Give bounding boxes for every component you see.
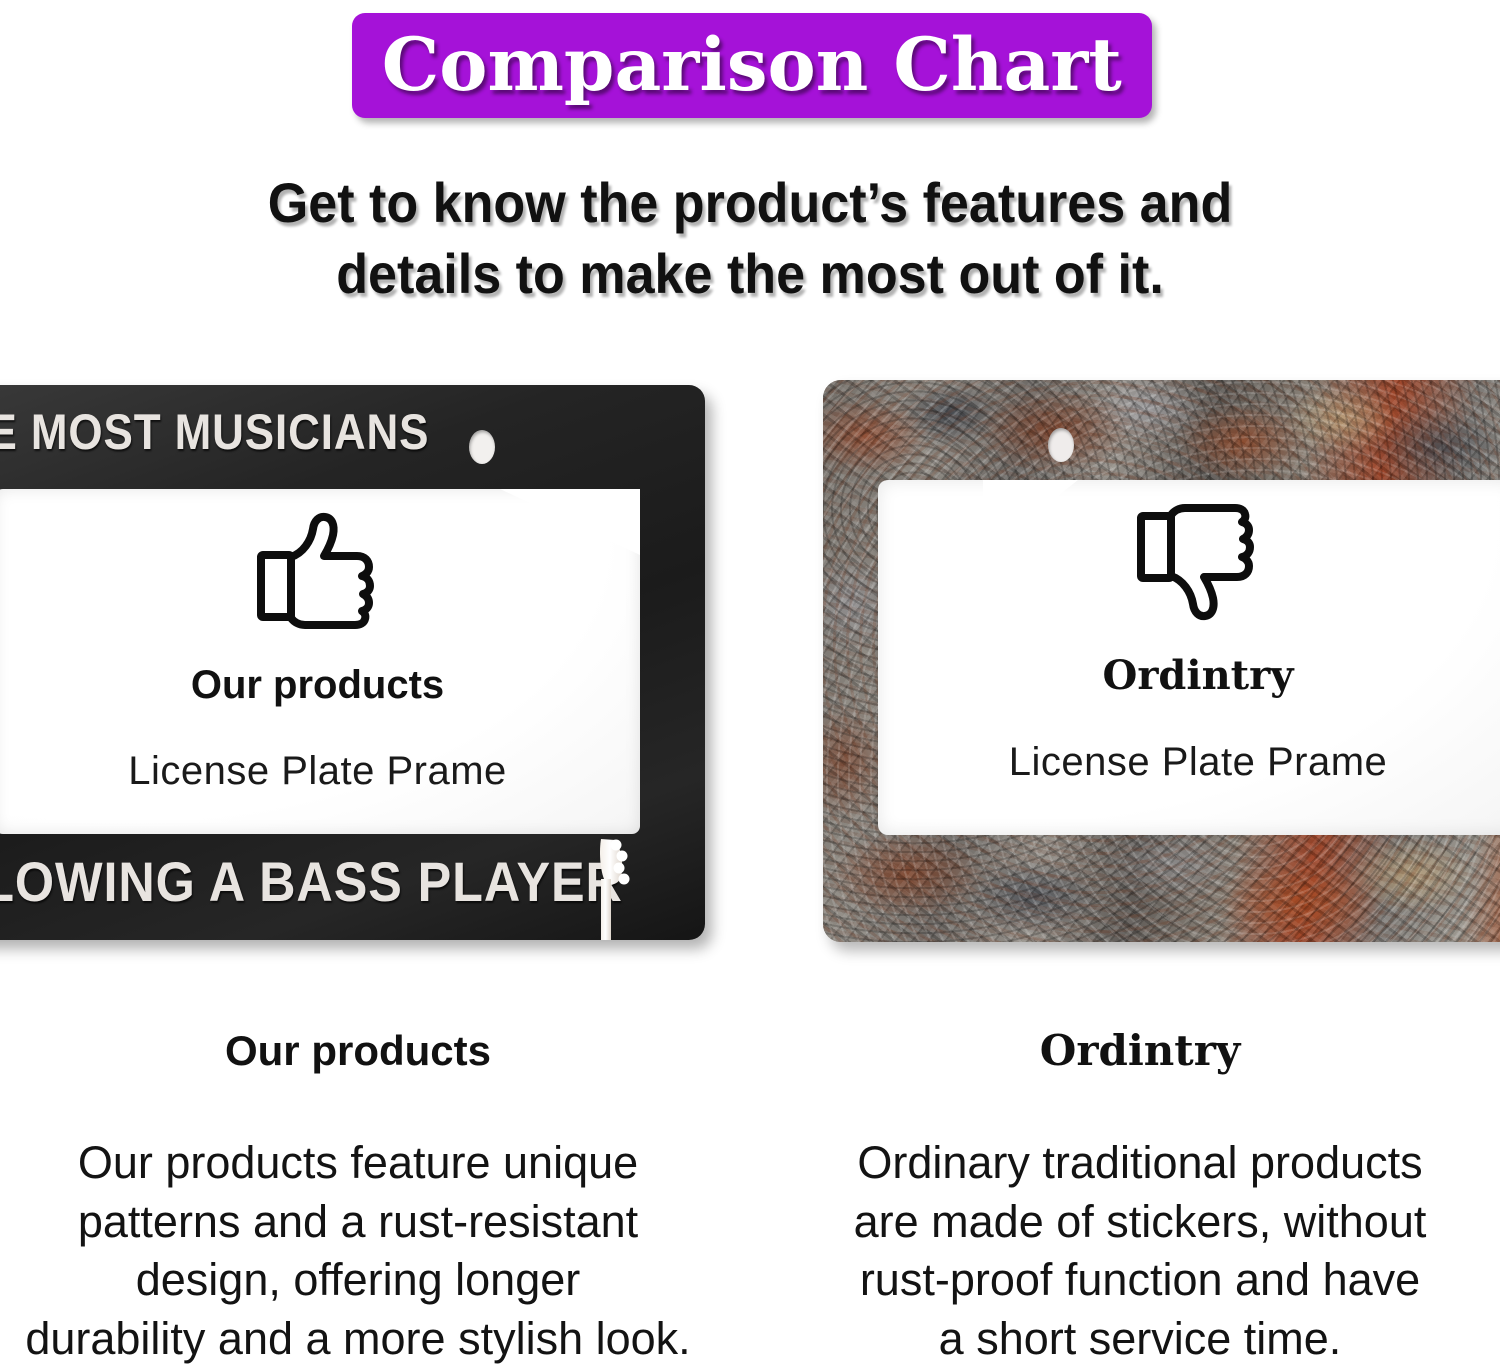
frame-top-text-left: E MOST MUSICIANS — [0, 407, 398, 457]
desc-left-line-4: durability and a more stylish look. — [8, 1310, 708, 1368]
description-heading-right: Ordintry — [790, 1030, 1490, 1072]
screw-hole-icon — [1048, 428, 1074, 462]
description-heading-left: Our products — [8, 1030, 708, 1072]
desc-left-line-2: patterns and a rust-resistant — [8, 1193, 708, 1252]
comparison-chart-banner: Comparison Chart — [352, 13, 1152, 118]
desc-right-line-4: a short service time. — [790, 1310, 1490, 1368]
subtitle-line-1: Get to know the product’s features and — [53, 168, 1448, 239]
desc-right-line-2: are made of stickers, without — [790, 1193, 1490, 1252]
subtitle: Get to know the product’s features and d… — [53, 168, 1448, 309]
description-body-right: Ordinary traditional products are made o… — [790, 1134, 1490, 1368]
screw-hole-icon — [469, 430, 495, 464]
plate-content-right: Ordintry License Plate Prame — [878, 480, 1500, 835]
card-title-left: Our products — [191, 665, 444, 705]
desc-right-line-3: rust-proof function and have — [790, 1251, 1490, 1310]
desc-left-line-3: design, offering longer — [8, 1251, 708, 1310]
product-card-ordinary: Ordintry License Plate Prame — [823, 380, 1500, 942]
description-column-ours: Our products Our products feature unique… — [8, 1030, 708, 1368]
card-subtitle-left: License Plate Prame — [128, 751, 507, 791]
card-title-right: Ordintry — [1103, 656, 1294, 696]
bass-guitar-icon — [588, 835, 640, 940]
page-title: Comparison Chart — [382, 29, 1122, 102]
thumbs-down-icon — [1133, 504, 1263, 622]
desc-right-line-1: Ordinary traditional products — [790, 1134, 1490, 1193]
product-card-ours: E MOST MUSICIANS LOWING A BASS PLAYER — [0, 385, 705, 940]
plate-content-left: Our products License Plate Prame — [0, 489, 640, 834]
desc-left-line-1: Our products feature unique — [8, 1134, 708, 1193]
description-body-left: Our products feature unique patterns and… — [8, 1134, 708, 1368]
thumbs-up-icon — [253, 511, 383, 629]
subtitle-line-2: details to make the most out of it. — [53, 239, 1448, 310]
frame-bottom-text-left: LOWING A BASS PLAYER — [0, 854, 624, 910]
card-subtitle-right: License Plate Prame — [1009, 742, 1388, 782]
description-column-ordinary: Ordintry Ordinary traditional products a… — [790, 1030, 1490, 1368]
